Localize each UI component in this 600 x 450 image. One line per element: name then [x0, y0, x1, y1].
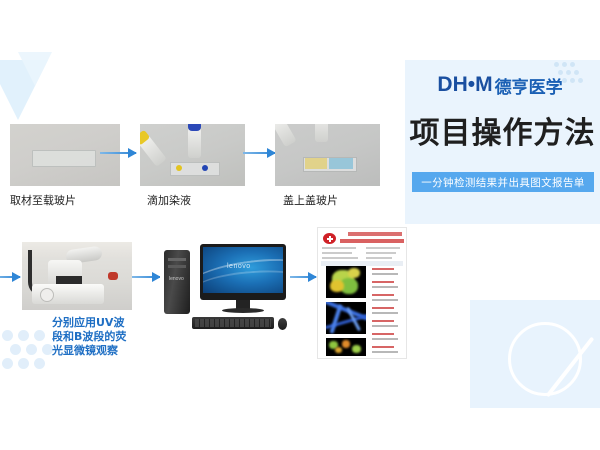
arrow-step2-to-step3-icon — [243, 148, 275, 158]
arrow-step1-to-step2-icon — [100, 148, 136, 158]
fluorescence-image-blue — [326, 302, 366, 334]
arrow-step5-to-step6-icon — [290, 272, 316, 282]
circle-slash-decoration-icon — [508, 322, 582, 396]
presentation-slide: DH•M 德亨医学 项目操作方法 一分钟检测结果并出具图文报告单 取材至载玻片 … — [0, 0, 600, 450]
monitor-frame-shape: lenovo — [200, 244, 286, 300]
computer-tower-shape: lenovo — [164, 250, 190, 314]
tower-brand-label: lenovo — [169, 276, 184, 282]
step-3-image — [275, 124, 380, 186]
step-4-caption-line-3: 光显微镜观察 — [52, 344, 126, 358]
yellow-stain-drop-shape — [176, 165, 182, 171]
fluorescence-image-green — [326, 266, 366, 298]
step-4-image — [22, 242, 132, 310]
fluorescence-image-green-orange — [326, 338, 366, 356]
step-4-caption-line-1: 分别应用UV波 — [52, 316, 126, 330]
page-title: 项目操作方法 — [405, 108, 600, 152]
screen-brand-label: lenovo — [227, 263, 251, 270]
step-4-caption-line-2: 段和B波段的荧 — [52, 330, 126, 344]
triangle-decoration-small-icon — [18, 52, 52, 86]
step-6-image — [318, 228, 406, 358]
slash-decoration-icon — [546, 337, 595, 398]
bottom-whitespace — [0, 408, 600, 450]
glass-slide-shape — [32, 150, 96, 167]
report-title-text — [340, 239, 404, 243]
arrow-step4-to-step5-icon — [132, 272, 160, 282]
monitor-stand-base-shape — [222, 308, 264, 313]
keyboard-shape — [192, 317, 274, 329]
reagent-bottle-yellow-shape — [275, 124, 297, 147]
step-5-image: lenovo lenovo — [160, 238, 290, 333]
corner-panel-decoration — [470, 300, 600, 408]
subtitle-banner: 一分钟检测结果并出具图文报告单 — [412, 172, 594, 192]
step-2-caption: 滴加染液 — [147, 192, 191, 208]
microscope-focus-knob-shape — [40, 288, 54, 302]
yellow-smear-shape — [305, 158, 327, 169]
step-2-image — [140, 124, 245, 186]
brand-logo: DH•M 德亨医学 — [405, 70, 595, 100]
arrow-wrap-to-step4-icon — [0, 272, 20, 282]
reagent-bottle-blue-shape — [188, 128, 201, 158]
blue-stain-drop-shape — [202, 165, 208, 171]
brand-chinese-text: 德亨医学 — [495, 73, 563, 98]
reagent-bottle-dark-shape — [315, 124, 328, 142]
mouse-shape — [278, 318, 287, 330]
report-hospital-name-text — [348, 232, 402, 236]
subtitle-text: 一分钟检测结果并出具图文报告单 — [421, 175, 585, 190]
monitor-screen: lenovo — [203, 247, 283, 293]
step-4-caption: 分别应用UV波 段和B波段的荧 光显微镜观察 — [52, 316, 126, 358]
brand-latin-text: DH•M — [437, 73, 492, 97]
red-object-shape — [108, 272, 118, 280]
reagent-bottle-yellow-shape — [140, 135, 167, 167]
blue-smear-shape — [329, 158, 353, 169]
triangle-decoration-icon — [0, 60, 48, 120]
hospital-cross-logo-icon — [323, 233, 336, 244]
step-3-caption: 盖上盖玻片 — [283, 192, 338, 208]
step-1-caption: 取材至载玻片 — [10, 192, 76, 208]
